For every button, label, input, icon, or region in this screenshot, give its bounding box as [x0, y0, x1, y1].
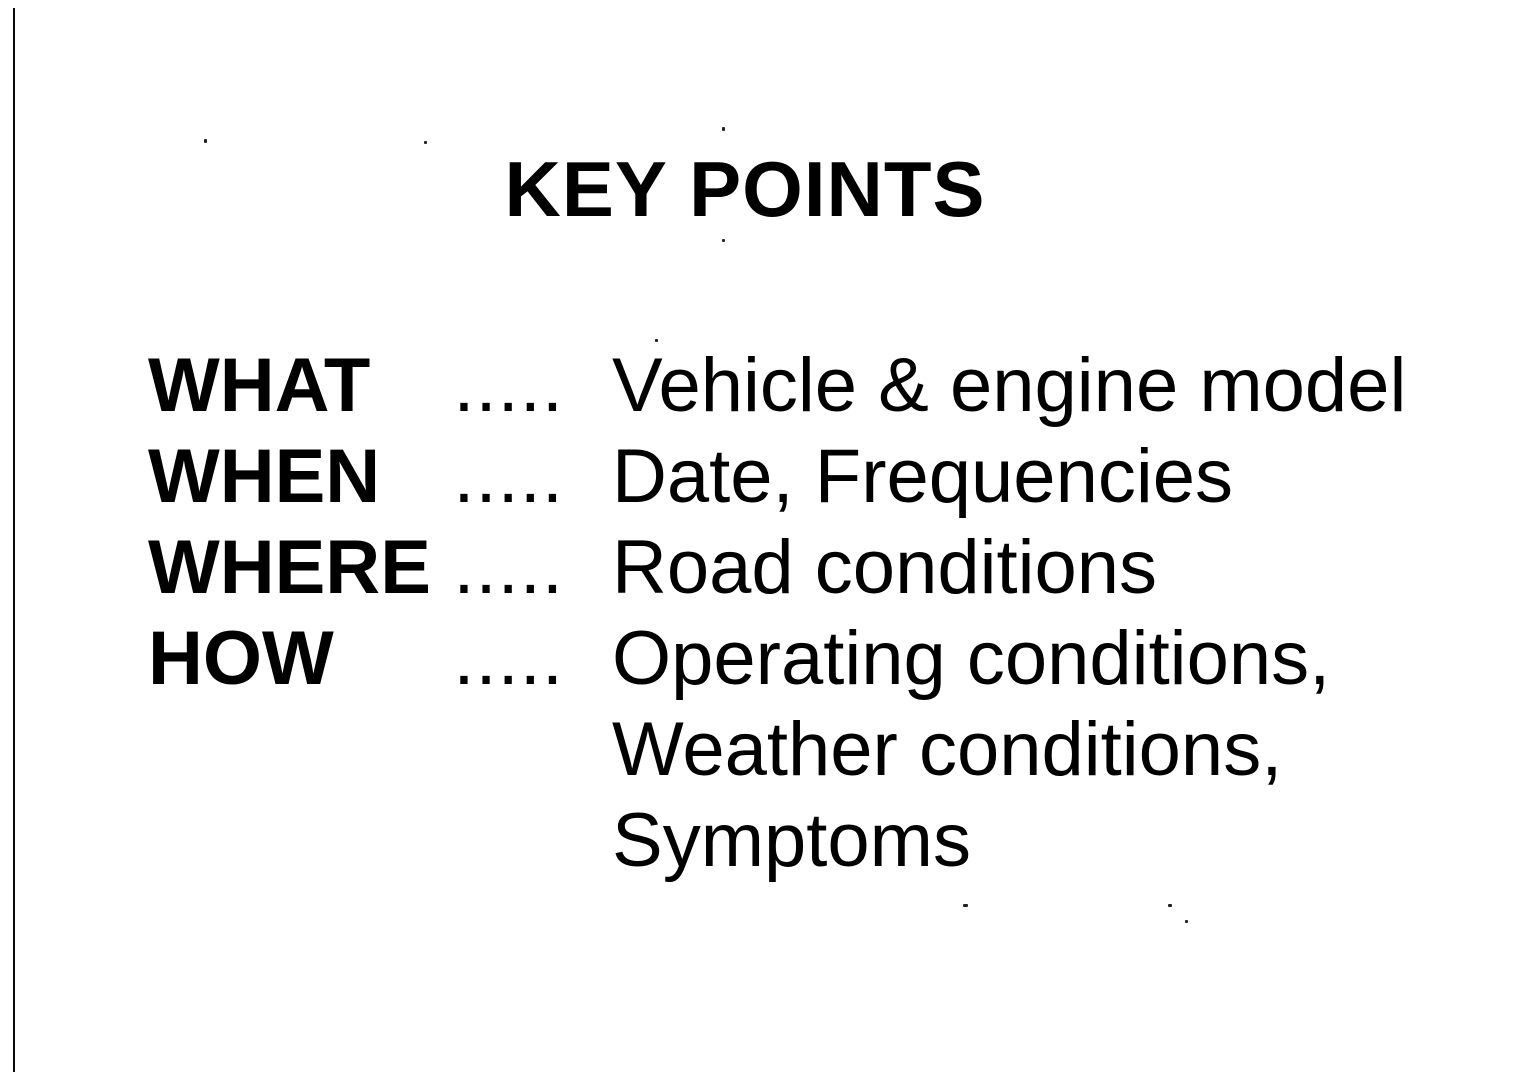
page-title: KEY POINTS: [0, 150, 1490, 228]
point-leader-when: .....: [380, 439, 568, 515]
point-value-where: Road conditions: [568, 530, 1468, 606]
scan-speck: [722, 239, 725, 242]
scan-speck: [963, 904, 968, 907]
list-item: WHERE ..... Road conditions: [148, 530, 1468, 621]
point-value-how-line3: Symptoms: [568, 803, 1468, 879]
list-item-continuation: Symptoms: [148, 803, 1468, 894]
list-item: HOW ..... Operating conditions,: [148, 621, 1468, 712]
point-label-where: WHERE: [148, 530, 431, 606]
point-label-how: HOW: [148, 621, 334, 697]
slide-canvas: KEY POINTS WHAT ..... Vehicle & engine m…: [0, 0, 1535, 1087]
scan-speck: [204, 139, 207, 143]
scan-speck: [655, 339, 658, 342]
scan-speck: [424, 141, 427, 144]
scan-speck: [1168, 904, 1172, 907]
list-item: WHAT ..... Vehicle & engine model: [148, 348, 1468, 439]
scan-speck: [1185, 920, 1188, 923]
point-leader-where: .....: [431, 530, 568, 606]
key-points-list: WHAT ..... Vehicle & engine model WHEN .…: [148, 348, 1468, 894]
point-value-what: Vehicle & engine model: [568, 348, 1468, 424]
list-item: WHEN ..... Date, Frequencies: [148, 439, 1468, 530]
point-label-what: WHAT: [148, 348, 370, 424]
point-value-how: Operating conditions,: [568, 621, 1468, 697]
list-item-continuation: Weather conditions,: [148, 712, 1468, 803]
point-leader-how: .....: [334, 621, 568, 697]
point-value-how-line2: Weather conditions,: [568, 712, 1468, 788]
scan-speck: [722, 127, 725, 131]
point-label-when: WHEN: [148, 439, 380, 515]
point-value-when: Date, Frequencies: [568, 439, 1468, 515]
point-leader-what: .....: [370, 348, 568, 424]
